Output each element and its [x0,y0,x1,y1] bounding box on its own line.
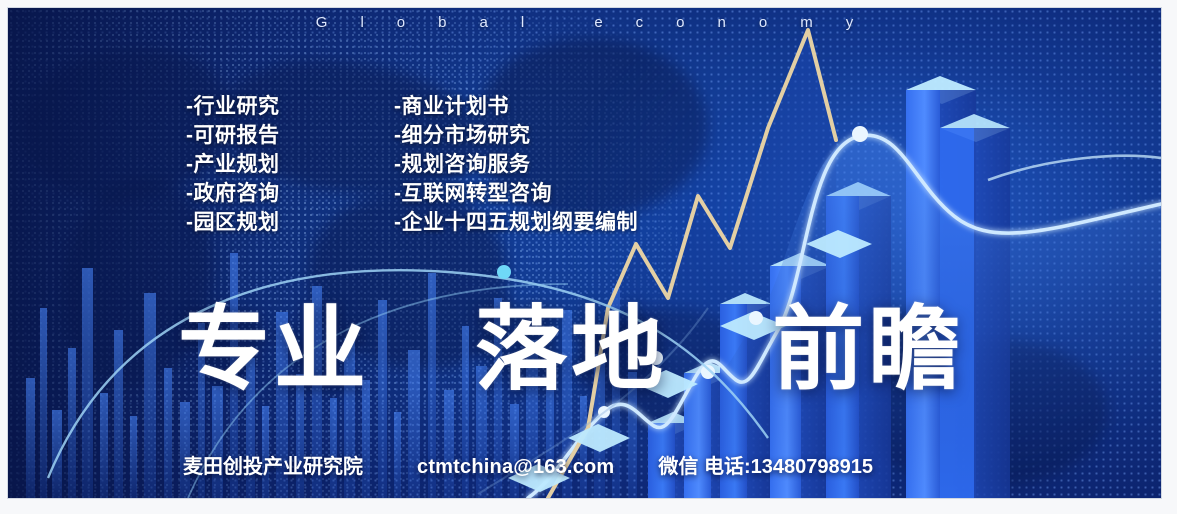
orbit-node-dot [497,265,511,279]
growth-chart [8,8,1161,498]
company-name: 麦田创投产业研究院 [183,450,363,479]
service-column-right: -商业计划书 -细分市场研究 -规划咨询服务 -互联网转型咨询 -企业十四五规划… [394,92,638,237]
service-item: -产业规划 [186,150,346,179]
email-address[interactable]: ctmtchina@163.com [417,456,614,479]
service-item: -规划咨询服务 [394,150,638,179]
phone-number[interactable]: 13480798915 [751,456,873,479]
service-item: -行业研究 [186,92,346,121]
kicker-global-economy: Global economy [8,14,1161,31]
headline-word-1: 专业 [178,299,370,401]
headline-word-2: 落地 [475,299,667,401]
service-item: -商业计划书 [394,92,638,121]
service-item: -政府咨询 [186,179,346,208]
service-item: -可研报告 [186,121,346,150]
promo-banner: Global economy -行业研究 -可研报告 -产业规划 -政府咨询 -… [8,8,1161,498]
screenshot-stage: Global economy -行业研究 -可研报告 -产业规划 -政府咨询 -… [0,0,1177,514]
headline: 专业 落地 前瞻 [178,304,964,396]
orbit-arc-right [988,156,1161,180]
headline-word-3: 前瞻 [772,299,964,401]
service-item: -互联网转型咨询 [394,179,638,208]
service-item: -企业十四五规划纲要编制 [394,208,638,237]
contact-label: 微信 电话: [658,450,750,479]
service-item: -园区规划 [186,208,346,237]
footer-contact: 麦田创投产业研究院 ctmtchina@163.com 微信 电话: 13480… [183,450,873,479]
service-lists: -行业研究 -可研报告 -产业规划 -政府咨询 -园区规划 -商业计划书 -细分… [186,92,638,237]
service-item: -细分市场研究 [394,121,638,150]
service-column-left: -行业研究 -可研报告 -产业规划 -政府咨询 -园区规划 [186,92,346,237]
